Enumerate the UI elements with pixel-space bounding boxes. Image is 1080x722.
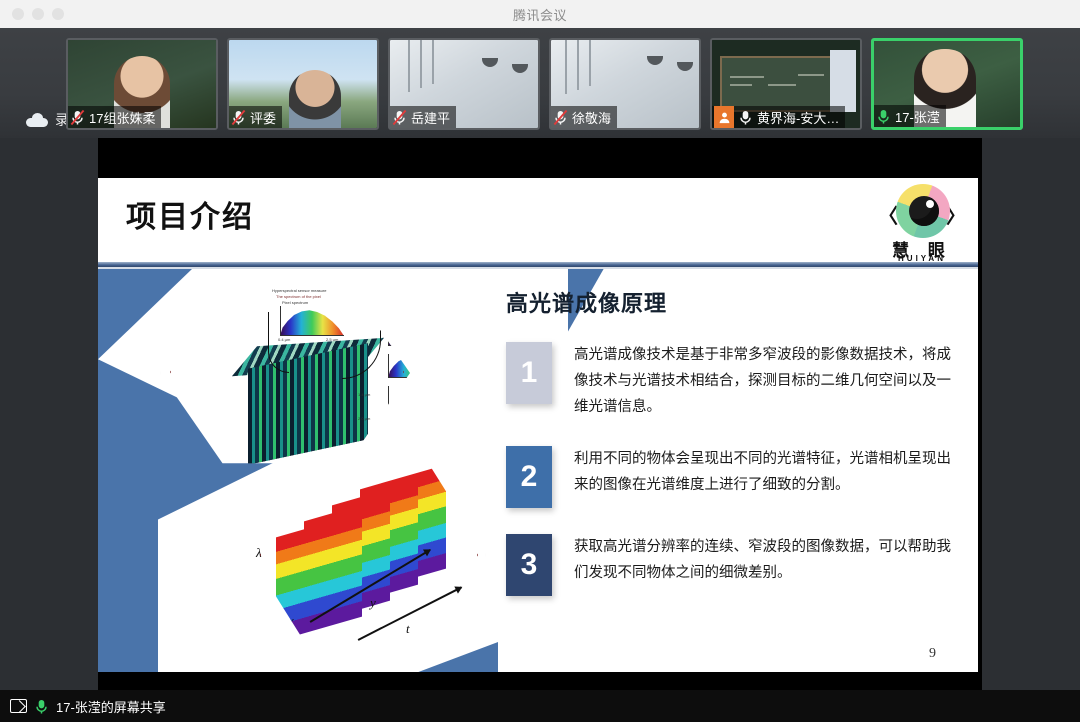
axis-label-lambda: λ [256,545,262,561]
mic-muted-icon [553,109,568,126]
app-title: 腾讯会议 [0,5,1080,24]
logo-english-text: HUIYAN [876,254,968,263]
mic-on-icon[interactable] [34,698,49,715]
participant-nameplate: 岳建平 [390,106,456,128]
cloud-icon [26,114,48,127]
participant-tile-3[interactable]: 岳建平 [388,38,540,130]
mic-muted-icon [392,109,407,126]
presentation-slide: 项目介绍 〈 〉 慧 眼 HUIYAN Hyperspectral sens [98,178,978,672]
participant-name: 17组张姝柔 [89,108,155,127]
share-status-label: 17-张滢的屏幕共享 [56,697,166,716]
mic-muted-icon [70,109,85,126]
video-tiles: 17组张姝柔 评委 [66,38,1023,130]
participant-nameplate: 评委 [229,106,282,128]
section-heading: 高光谱成像原理 [506,286,958,318]
slide-page-number: 9 [929,646,936,662]
list-item: 1 高光谱成像技术是基于非常多窄波段的影像数据技术，将成像技术与光谱技术相结合，… [506,342,958,420]
participant-name: 17-张滢 [895,107,940,126]
participant-nameplate: 黄界海-安大… [712,106,845,128]
participant-tile-4[interactable]: 徐敬海 [549,38,701,130]
participant-name: 岳建平 [411,108,450,127]
mic-muted-icon [231,109,246,126]
slide-title: 项目介绍 [126,192,254,236]
participant-name: 徐敬海 [572,108,611,127]
mic-on-icon [738,109,753,126]
participant-name: 黄界海-安大… [757,108,839,127]
share-status-bar: 17-张滢的屏幕共享 [0,690,1080,722]
title-bar: 腾讯会议 [0,0,1080,29]
participant-tile-1[interactable]: 17组张姝柔 [66,38,218,130]
list-item: 3 获取高光谱分辨率的连续、窄波段的图像数据，可以帮助我们发现不同物体之间的细微… [506,534,958,596]
item-number-badge: 2 [506,446,552,508]
participant-nameplate: 徐敬海 [551,106,617,128]
slide-body: Hyperspectral sensor measure The spectru… [98,269,978,672]
item-number-badge: 1 [506,342,552,404]
avatar [714,106,734,128]
participant-strip: 录制中 17组张姝柔 [0,28,1080,138]
list-item: 2 利用不同的物体会呈现出不同的光谱特征，光谱相机呈现出来的图像在光谱维度上进行… [506,446,958,508]
screen-share-icon[interactable] [10,699,27,713]
tencent-meeting-window: 腾讯会议 录制中 17组张姝柔 [0,0,1080,722]
shared-screen-area[interactable]: 项目介绍 〈 〉 慧 眼 HUIYAN Hyperspectral sens [98,138,982,690]
huiyan-logo: 〈 〉 慧 眼 HUIYAN [876,184,968,262]
item-text: 获取高光谱分辨率的连续、窄波段的图像数据，可以帮助我们发现不同物体之间的细微差别… [574,534,958,586]
participant-name: 评委 [250,108,276,127]
participant-nameplate: 17组张姝柔 [68,106,161,128]
left-chevron-icon: 〈 [878,200,898,229]
item-number-badge: 3 [506,534,552,596]
item-text: 利用不同的物体会呈现出不同的光谱特征，光谱相机呈现出来的图像在光谱维度上进行了细… [574,446,958,498]
content-column: 高光谱成像原理 1 高光谱成像技术是基于非常多窄波段的影像数据技术，将成像技术与… [506,286,958,622]
person-icon [718,111,731,124]
participant-nameplate: 17-张滢 [874,105,946,127]
participant-tile-5[interactable]: 黄界海-安大… [710,38,862,130]
mic-on-icon [876,108,891,125]
participant-tile-2[interactable]: 评委 [227,38,379,130]
item-text: 高光谱成像技术是基于非常多窄波段的影像数据技术，将成像技术与光谱技术相结合，探测… [574,342,958,420]
eye-icon [896,184,950,238]
participant-tile-6[interactable]: 17-张滢 [871,38,1023,130]
